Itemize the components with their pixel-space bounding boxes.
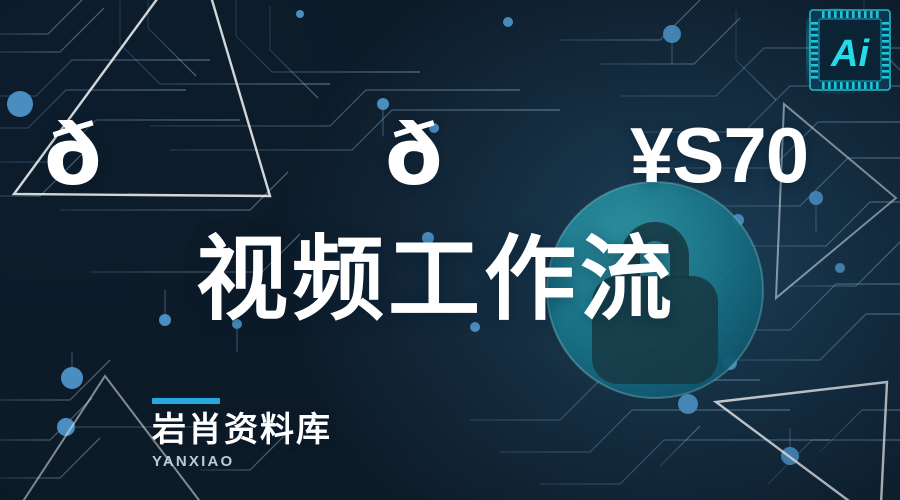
ai-chip-badge[interactable]: Ai [806,6,894,94]
brand-name-en: YANXIAO [152,453,332,471]
brand-accent-bar [152,398,220,404]
triangle-bottom-right [716,382,887,500]
ai-chip-label: Ai [830,33,870,75]
page-title: 视频工作流 [196,228,676,332]
brand-block: 岩肖资料库 YANXIAO [152,398,332,471]
promo-banner: Ai ð ð ¥S70 视频工作流 岩肖资料库 YANXIAO [0,0,900,500]
triangle-top-left [14,0,270,196]
triangle-top-right [776,104,896,298]
brand-name-cn: 岩肖资料库 [152,411,332,449]
